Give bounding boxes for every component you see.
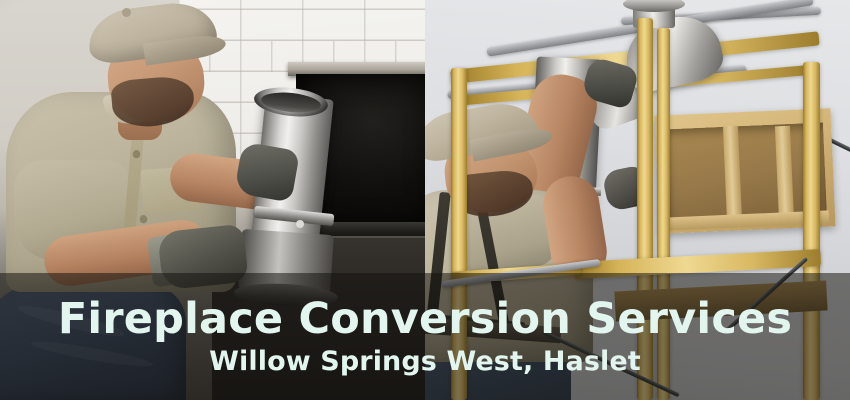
service-banner: Fireplace Conversion Services Willow Spr… (0, 0, 850, 400)
location-subtitle: Willow Springs West, Haslet (209, 348, 641, 376)
caption-text-block: Fireplace Conversion Services Willow Spr… (0, 273, 850, 400)
stove-pipe-screw (296, 220, 304, 228)
shirt-button (140, 215, 147, 222)
page-title: Fireplace Conversion Services (58, 297, 792, 342)
cap-button (122, 8, 131, 17)
shirt-button (133, 150, 140, 157)
